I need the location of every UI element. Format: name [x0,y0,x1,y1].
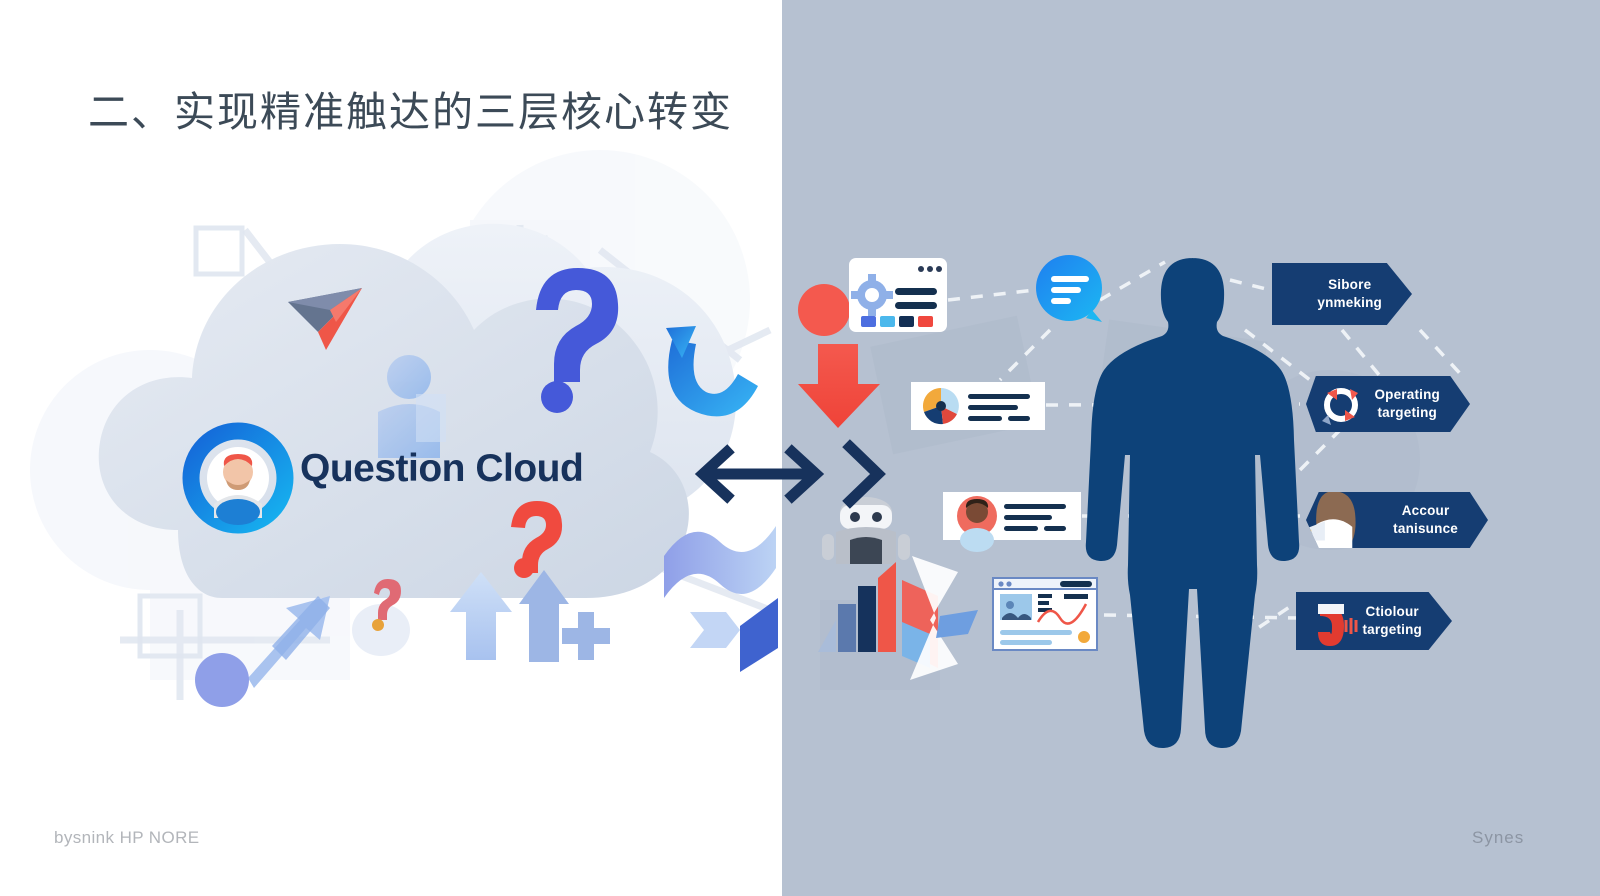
banner-line-1: Accour [1393,502,1458,520]
magnet-icon [1304,594,1358,648]
banner-line-1: Operating [1374,386,1440,404]
settings-card [849,258,947,332]
user-profile-card [943,492,1081,552]
banner-line-2: targeting [1374,404,1440,422]
banner-accour-tanisunce[interactable]: Accour tanisunce [1306,492,1488,548]
browser-analytics-card [993,578,1097,650]
footer-right-logo: Synes [1472,828,1524,848]
robot-icon [822,497,910,564]
banner-line-2: ynmeking [1317,294,1382,312]
chevron-right-icon [850,447,878,501]
down-arrow-icon [798,344,880,428]
banner-ctiolour-targeting[interactable]: Ctiolour targeting [1296,592,1452,650]
refresh-cycle-icon [1314,377,1368,431]
banner-line-2: tanisunce [1393,520,1458,538]
banner-line-2: targeting [1362,621,1422,639]
user-avatar-icon [957,496,997,552]
banner-line-1: Ctiolour [1362,603,1422,621]
red-circle-decor [798,284,850,336]
pie-chart-card [911,382,1045,430]
chat-bubble-icon [1036,255,1102,322]
banner-line-1: Sibore [1317,276,1382,294]
pie-chart-icon [923,388,959,424]
slide-root: Question Cloud [0,0,1600,896]
banner-sibore-ynmeking[interactable]: Sibore ynmeking [1272,263,1412,325]
footer-left-text: bysnink HP NORE [54,828,200,848]
banner-operating-targeting[interactable]: Operating targeting [1306,376,1470,432]
double-headed-arrow-icon [703,452,816,496]
page-title: 二、实现精准触达的三层核心转变 [88,78,733,138]
